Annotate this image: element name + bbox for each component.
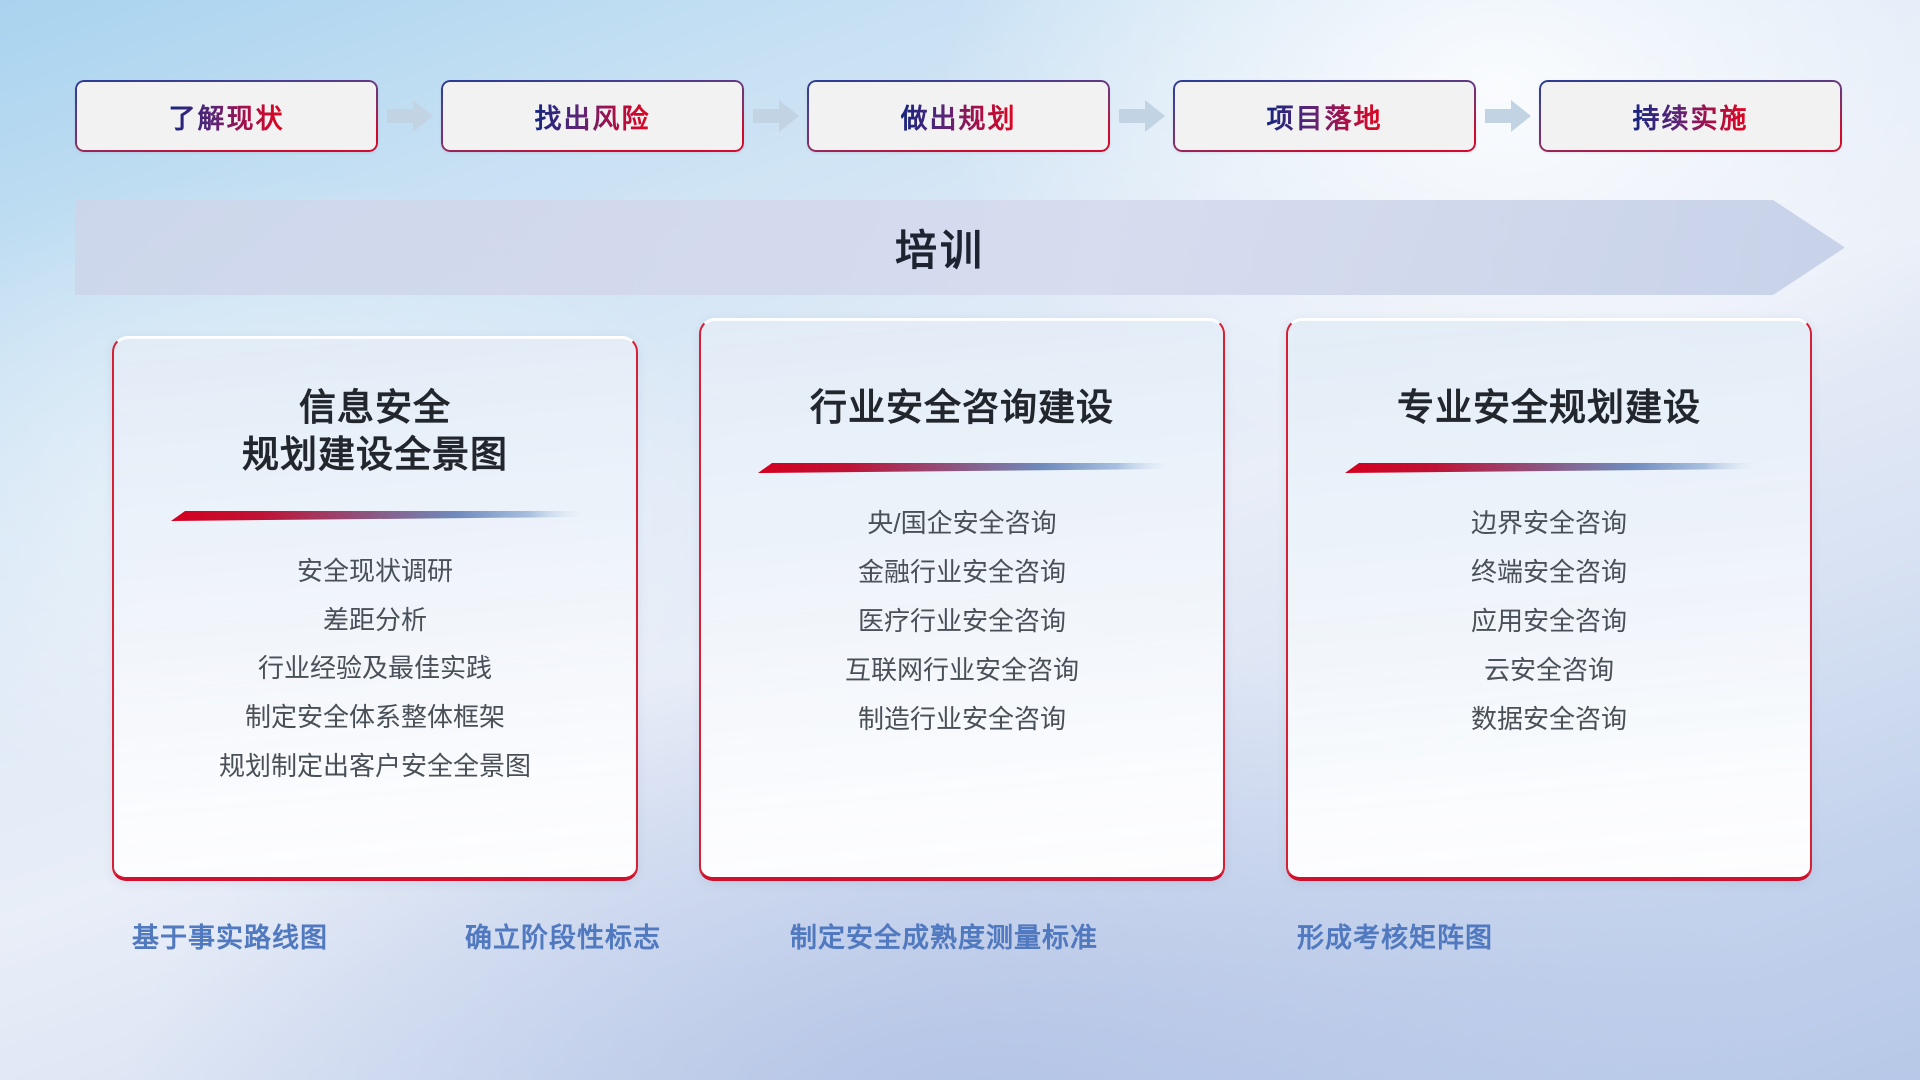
card-title-line: 行业安全咨询建设 (810, 384, 1114, 431)
right-arrow-icon (1110, 80, 1173, 152)
card-title-line: 信息安全 (242, 384, 508, 431)
footer-label-row: 基于事实路线图 确立阶段性标志 制定安全成熟度测量标准 形成考核矩阵图 (0, 916, 1920, 966)
step-label: 做出规划 (901, 97, 1017, 136)
step-label: 了解现状 (169, 97, 285, 136)
list-item: 互联网行业安全咨询 (845, 653, 1079, 689)
card-professional-security-planning[interactable]: 专业安全规划建设 边界安全咨询 终端安全咨询 (1286, 318, 1812, 881)
list-item: 差距分析 (323, 603, 427, 639)
list-item: 边界安全咨询 (1471, 506, 1627, 542)
list-item: 终端安全咨询 (1471, 555, 1627, 591)
list-item: 制造行业安全咨询 (858, 702, 1066, 738)
list-item: 医疗行业安全咨询 (858, 604, 1066, 640)
step-label: 项目落地 (1267, 97, 1383, 136)
list-item: 制定安全体系整体框架 (245, 700, 505, 736)
list-item: 金融行业安全咨询 (858, 555, 1066, 591)
process-step-row: 了解现状 找出风险 做出规划 项目落地 持续实施 (75, 80, 1845, 152)
list-item: 行业经验及最佳实践 (258, 651, 492, 687)
card-item-list: 安全现状调研 差距分析 行业经验及最佳实践 制定安全体系整体框架 规划制定出客户… (195, 554, 555, 825)
list-item: 安全现状调研 (297, 554, 453, 590)
card-title-line: 规划建设全景图 (242, 431, 508, 478)
footer-label-4: 形成考核矩阵图 (1297, 916, 1493, 955)
card-row: 信息安全 规划建设全景图 安全现状调研 差 (112, 336, 1812, 881)
list-item: 央/国企安全咨询 (867, 506, 1056, 542)
right-arrow-icon (378, 80, 441, 152)
right-arrow-icon (744, 80, 807, 152)
list-item: 云安全咨询 (1484, 653, 1614, 689)
step-box-2[interactable]: 找出风险 (441, 80, 744, 152)
card-title: 信息安全 规划建设全景图 (242, 384, 508, 479)
step-box-3[interactable]: 做出规划 (807, 80, 1110, 152)
card-title: 专业安全规划建设 (1397, 384, 1701, 431)
card-title-line: 专业安全规划建设 (1397, 384, 1701, 431)
list-item: 规划制定出客户安全全景图 (219, 749, 531, 785)
card-item-list: 边界安全咨询 终端安全咨询 应用安全咨询 云安全咨询 数据安全咨询 (1447, 506, 1651, 777)
step-label: 持续实施 (1633, 97, 1749, 136)
card-info-security-blueprint[interactable]: 信息安全 规划建设全景图 安全现状调研 差 (112, 336, 638, 881)
footer-label-2: 确立阶段性标志 (465, 916, 661, 955)
gradient-divider-icon (171, 509, 579, 522)
gradient-divider-icon (1345, 461, 1753, 474)
step-box-4[interactable]: 项目落地 (1173, 80, 1476, 152)
card-title: 行业安全咨询建设 (810, 384, 1114, 431)
list-item: 数据安全咨询 (1471, 702, 1627, 738)
banner-title: 培训 (75, 200, 1845, 295)
step-box-1[interactable]: 了解现状 (75, 80, 378, 152)
training-banner: 培训 (75, 200, 1845, 295)
card-item-list: 央/国企安全咨询 金融行业安全咨询 医疗行业安全咨询 互联网行业安全咨询 制造行… (821, 506, 1103, 777)
card-industry-security-consulting[interactable]: 行业安全咨询建设 央/国企安全咨询 金融行业安全咨询 (699, 318, 1225, 881)
right-arrow-icon (1476, 80, 1539, 152)
step-label: 找出风险 (535, 97, 651, 136)
gradient-divider-icon (758, 461, 1166, 474)
step-box-5[interactable]: 持续实施 (1539, 80, 1842, 152)
list-item: 应用安全咨询 (1471, 604, 1627, 640)
footer-label-3: 制定安全成熟度测量标准 (790, 916, 1098, 955)
footer-label-1: 基于事实路线图 (132, 916, 328, 955)
